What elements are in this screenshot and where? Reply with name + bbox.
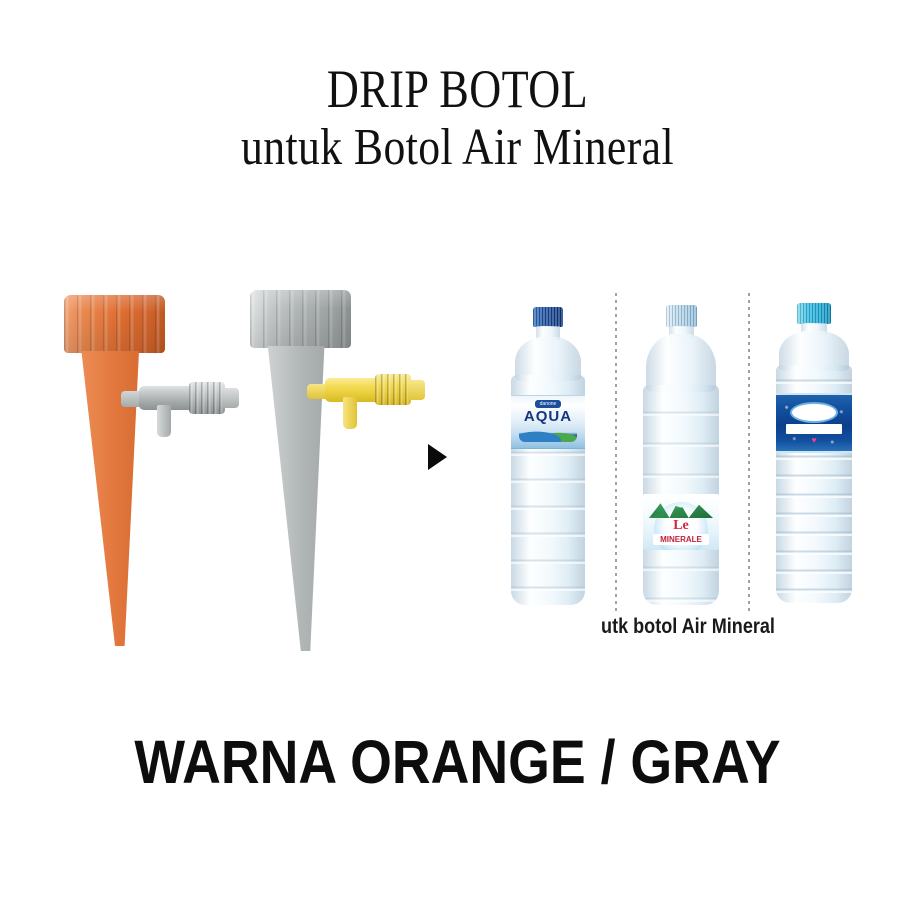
le-wordmark: Le [643,518,719,534]
cap-shading [250,290,351,348]
yellow-valve [307,368,437,434]
play-triangle-right-icon [428,444,447,470]
bottle-shoulder [646,334,716,392]
bottle-label-aqua: danone AQUA [511,395,585,449]
product-image-canvas: DRIP BOTOL untuk Botol Air Mineral [0,0,915,915]
bottle-cap [666,305,697,327]
drip-spike-gray [243,290,443,660]
cap-ribs [797,303,831,324]
drip-spike-orange [55,295,255,655]
valve-knob-ribs [375,374,411,405]
orange-cap [64,295,165,353]
bottles-caption: utk botol Air Mineral [507,615,868,639]
cap-ribs [666,305,697,327]
page-title-line-1: DRIP BOTOL [82,58,832,120]
club-mark: ♥ [776,435,852,445]
le-banner: MINERALE [653,534,709,545]
dotted-divider-1 [615,293,617,613]
valve-tip [408,380,425,400]
aqua-wave-graphic [519,426,577,442]
bottles-panel: danone AQUA Le MINERALE [478,285,898,660]
bottle-cap [797,303,831,324]
bottom-caption: WARNA ORANGE / GRAY [55,727,860,797]
valve-knob [189,382,225,414]
page-title-line-2: untuk Botol Air Mineral [73,118,842,177]
valve-knob [375,374,411,405]
club-oval-graphic [790,402,838,423]
gray-valve [121,375,251,441]
valve-knob-ribs [189,382,225,414]
cap-shading [64,295,165,353]
bottle-label-club: ♥ [776,393,852,453]
bottle-cap [533,307,563,327]
aqua-brand-chip: danone [535,400,561,408]
dotted-divider-2 [748,293,750,613]
club-band [786,424,842,434]
bottle-aqua: danone AQUA [500,307,596,607]
bottle-label-le-minerale: Le MINERALE [643,494,719,550]
valve-nozzle [157,405,171,437]
bottle-le-minerale: Le MINERALE [633,305,729,607]
le-mountain-graphic [649,498,713,518]
le-sub-brand: MINERALE [653,534,709,545]
cap-ribs [533,307,563,327]
gray-cap [250,290,351,348]
valve-nozzle [343,397,357,429]
valve-tip [222,388,239,408]
aqua-wordmark: AQUA [511,408,585,425]
bottle-club: ♥ [766,303,862,605]
